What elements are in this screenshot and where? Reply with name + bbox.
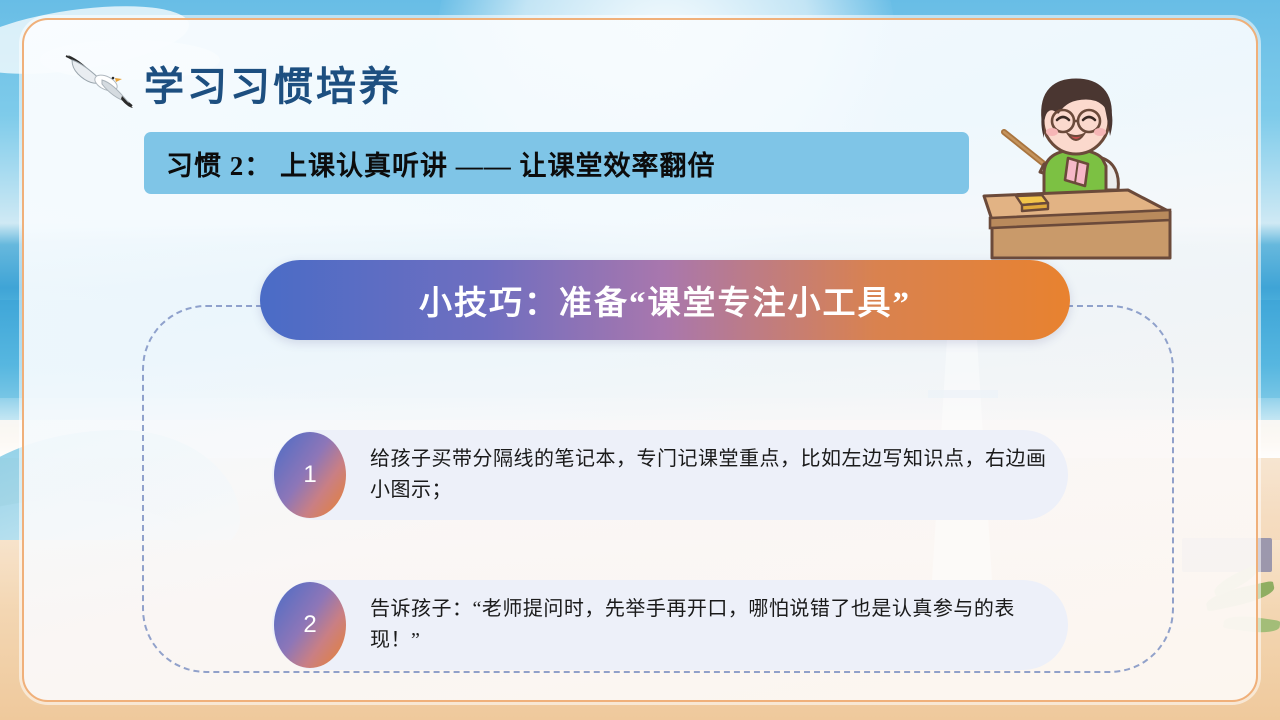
tip-row: 2 告诉孩子：“老师提问时，先举手再开口，哪怕说错了也是认真参与的表现！” bbox=[272, 580, 1068, 670]
slide-card: 学习习惯培养 习惯 2： 上课认真听讲 —— 让课堂效率翻倍 bbox=[22, 18, 1258, 702]
tip-text: 告诉孩子：“老师提问时，先举手再开口，哪怕说错了也是认真参与的表现！” bbox=[370, 594, 1050, 656]
tip-row: 1 给孩子买带分隔线的笔记本，专门记课堂重点，比如左边写知识点，右边画小图示； bbox=[272, 430, 1068, 520]
highlight-pill: 小技巧：准备“课堂专注小工具” bbox=[260, 260, 1070, 340]
subtitle-bar: 习惯 2： 上课认真听讲 —— 让课堂效率翻倍 bbox=[144, 132, 969, 194]
subtitle-text: 习惯 2： 上课认真听讲 —— 让课堂效率翻倍 bbox=[166, 144, 716, 183]
seagull-icon bbox=[62, 50, 138, 112]
tip-number-badge: 2 bbox=[274, 582, 346, 668]
pointer-stick-icon bbox=[1004, 132, 1044, 164]
teacher-at-desk-illustration bbox=[982, 62, 1172, 260]
highlight-pill-text: 小技巧：准备“课堂专注小工具” bbox=[419, 276, 911, 324]
tip-text: 给孩子买带分隔线的笔记本，专门记课堂重点，比如左边写知识点，右边画小图示； bbox=[370, 444, 1050, 506]
page-title: 学习习惯培养 bbox=[144, 54, 402, 112]
tip-number-badge: 1 bbox=[274, 432, 346, 518]
